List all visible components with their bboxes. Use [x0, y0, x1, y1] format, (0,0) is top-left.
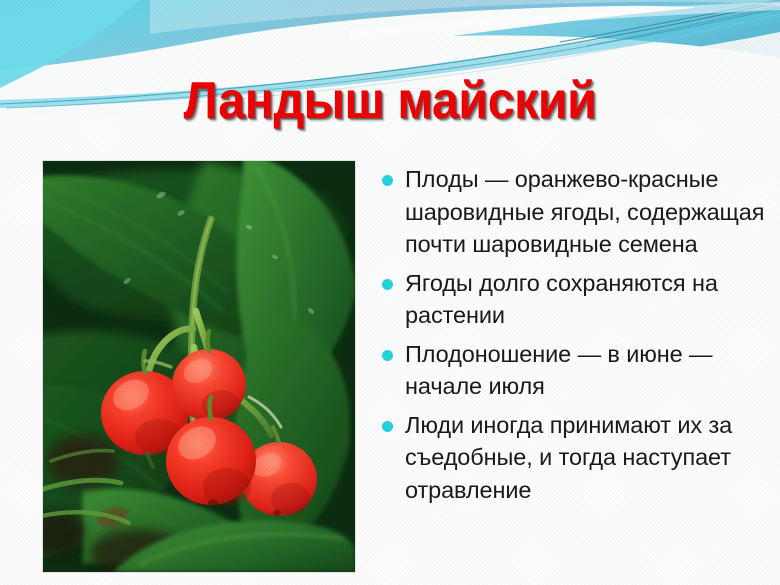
presentation-slide: Ландыш майский: [0, 0, 780, 585]
bullet-dot-icon: [382, 279, 393, 290]
list-item-text: Плодоношение — в июне — начале июля: [405, 341, 712, 400]
list-item-text: Плоды — оранжево-красные шаровидные ягод…: [405, 166, 764, 257]
bullet-dot-icon: [382, 350, 393, 361]
list-item: Плодоношение — в июне — начале июля: [376, 338, 772, 403]
list-item: Плоды — оранжево-красные шаровидные ягод…: [376, 163, 772, 261]
list-item-text: Ягоды долго сохраняются на растении: [405, 270, 718, 329]
bullet-dot-icon: [382, 421, 393, 432]
list-item: Люди иногда принимают их за съедобные, и…: [376, 409, 772, 507]
list-item-text: Люди иногда принимают их за съедобные, и…: [405, 412, 732, 503]
bullet-dot-icon: [382, 175, 393, 186]
lily-of-the-valley-berries-photo: [43, 161, 355, 572]
bullet-list: Плоды — оранжево-красные шаровидные ягод…: [376, 163, 772, 506]
list-item: Ягоды долго сохраняются на растении: [376, 267, 772, 332]
slide-title: Ландыш майский: [27, 72, 752, 130]
